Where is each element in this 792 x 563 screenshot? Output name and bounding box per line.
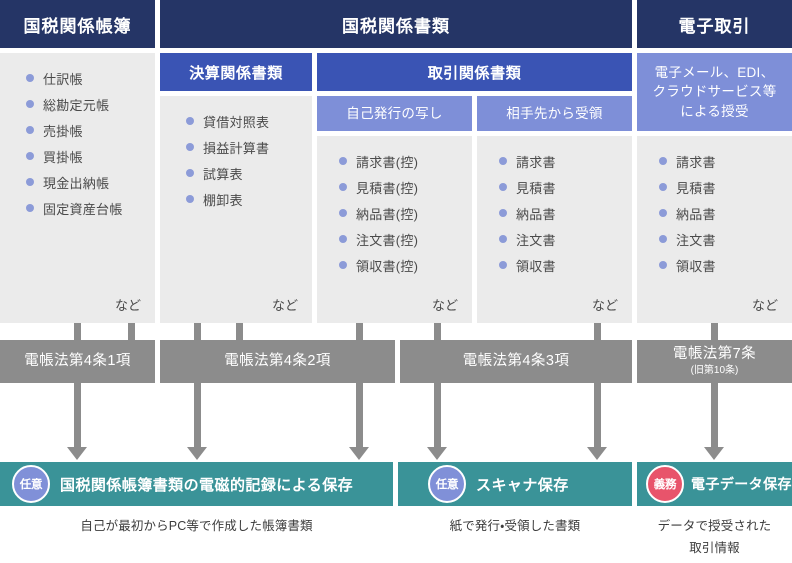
badge-optional-books: 任意 [12,465,50,503]
list-item: 総勘定元帳 [26,91,155,117]
list-item-label: 試算表 [203,164,243,183]
list-item-label: 納品書 [676,204,716,223]
bullet-icon [499,235,507,243]
bullet-icon [26,204,34,212]
list-panel-etrade: 請求書見積書納品書注文書領収書 など [637,136,792,323]
connector-etrade-to-law7 [711,323,718,340]
bullet-icon [499,183,507,191]
list-panel-self-issued: 請求書(控)見積書(控)納品書(控)注文書(控)領収書(控) など [317,136,472,323]
list-item-label: 領収書 [676,256,716,275]
bullet-icon [186,169,194,177]
result-label-electronic-data: 電子データ保存 [691,474,792,494]
bullet-icon [339,261,347,269]
list-item-label: 損益計算書 [203,138,269,157]
list-item-label: 領収書(控) [356,256,418,275]
arrow-stem-1 [74,383,81,449]
bullet-icon [659,183,667,191]
list-item: 買掛帳 [26,143,155,169]
bullet-icon [339,209,347,217]
bullet-icon [339,157,347,165]
list-item: 請求書 [659,148,792,174]
caption-scanner-storage: 紙で発行・受領した書類 [398,516,632,538]
result-box-scanner-storage: 任意 スキャナ保存 [398,462,632,506]
law-bar-4-2: 電帳法第4条2項 [160,340,395,383]
list-item-label: 総勘定元帳 [43,95,109,114]
bullet-icon [26,152,34,160]
arrow-head-6 [704,447,724,460]
list-item-label: 見積書(控) [356,178,418,197]
list-item-label: 現金出納帳 [43,173,109,192]
list-item-label: 見積書 [516,178,556,197]
category-header-etrade-label: 電子取引 [678,12,750,37]
bullet-icon [26,178,34,186]
sub-header-settlement: 決算関係書類 [160,53,312,91]
bullet-icon [186,143,194,151]
list-item: 請求書 [499,148,632,174]
connector-received-to-law3 [594,323,601,340]
sub-header-self-issued-label: 自己発行の写し [346,104,442,124]
badge-mandatory-edata: 義務 [646,465,684,503]
list-item: 損益計算書 [186,134,312,160]
bullet-icon [339,235,347,243]
list-settlement: 貸借対照表損益計算書試算表棚卸表 [186,108,312,212]
law-bar-4-3: 電帳法第4条3項 [400,340,632,383]
list-item-label: 請求書 [516,152,556,171]
category-header-documents-label: 国税関係書類 [342,12,450,37]
bullet-icon [26,126,34,134]
category-header-books: 国税関係帳簿 [0,0,155,48]
category-header-books-label: 国税関係帳簿 [23,12,131,37]
bullet-icon [339,183,347,191]
law-bar-4-1: 電帳法第4条1項 [0,340,155,383]
list-item: 領収書 [659,252,792,278]
list-item: 試算表 [186,160,312,186]
list-item: 固定資産台帳 [26,195,155,221]
list-item-label: 注文書 [516,230,556,249]
bullet-icon [499,157,507,165]
sub-header-etrade-means-label: 電子メール、EDI、クラウドサービス等による授受 [653,63,777,122]
bullet-icon [186,117,194,125]
list-item-label: 納品書(控) [356,204,418,223]
sub-header-self-issued: 自己発行の写し [317,96,472,131]
result-label-scanner-storage: スキャナ保存 [476,474,569,495]
list-item-label: 請求書 [676,152,716,171]
list-panel-received: 請求書見積書納品書注文書領収書 など [477,136,632,323]
list-item: 納品書(控) [339,200,472,226]
arrow-stem-2 [194,383,201,449]
connector-books-to-law1 [74,323,81,340]
list-item-label: 領収書 [516,256,556,275]
law-bar-4-3-label: 電帳法第4条3項 [463,353,570,370]
law-bar-7-sublabel: (旧第10条) [691,365,739,377]
connector-law1-right-stub [194,323,201,340]
bullet-icon [659,261,667,269]
list-item: 見積書 [499,174,632,200]
connector-settlement-to-law2 [128,323,135,340]
caption-electronic-books: 自己が最初からPC等で作成した帳簿書類 [0,516,393,538]
list-item: 納品書 [659,200,792,226]
arrow-head-4 [427,447,447,460]
list-item-label: 売掛帳 [43,121,83,140]
list-received: 請求書見積書納品書注文書領収書 [499,148,632,278]
sub-header-etrade-means: 電子メール、EDI、クラウドサービス等による授受 [637,53,792,131]
sub-header-transaction: 取引関係書類 [317,53,632,91]
list-item: 見積書(控) [339,174,472,200]
list-item-label: 見積書 [676,178,716,197]
list-item: 請求書(控) [339,148,472,174]
result-box-electronic-data: 義務 電子データ保存 [637,462,792,506]
arrow-head-5 [587,447,607,460]
list-item: 納品書 [499,200,632,226]
list-item-label: 固定資産台帳 [43,199,123,218]
list-item: 注文書 [499,226,632,252]
diagram-root: 国税関係帳簿 国税関係書類 電子取引 決算関係書類 取引関係書類 電子メール、E… [0,0,792,563]
arrow-stem-3 [356,383,363,449]
list-item-label: 納品書 [516,204,556,223]
list-item-label: 注文書 [676,230,716,249]
list-books: 仕訳帳総勘定元帳売掛帳買掛帳現金出納帳固定資産台帳 [26,65,155,221]
list-item-label: 仕訳帳 [43,69,83,88]
connector-selfissued-to-law3-b [434,323,441,340]
list-item-label: 注文書(控) [356,230,418,249]
list-etrade: 請求書見積書納品書注文書領収書 [659,148,792,278]
list-self-issued: 請求書(控)見積書(控)納品書(控)注文書(控)領収書(控) [339,148,472,278]
list-item-label: 貸借対照表 [203,112,269,131]
etc-label-self-issued: など [339,295,472,323]
law-bar-4-1-label: 電帳法第4条1項 [24,353,131,370]
arrow-stem-5 [594,383,601,449]
arrow-head-3 [349,447,369,460]
bullet-icon [659,209,667,217]
list-item: 領収書(控) [339,252,472,278]
list-item: 見積書 [659,174,792,200]
caption-electronic-data: データで授受された取引情報 [637,516,792,560]
bullet-icon [659,235,667,243]
sub-header-received: 相手先から受領 [477,96,632,131]
list-item: 棚卸表 [186,186,312,212]
etc-label-etrade: など [659,295,792,323]
bullet-icon [499,209,507,217]
list-panel-settlement: 貸借対照表損益計算書試算表棚卸表 など [160,96,312,323]
sub-header-transaction-label: 取引関係書類 [428,62,522,83]
arrow-head-1 [67,447,87,460]
arrow-head-2 [187,447,207,460]
list-item: 貸借対照表 [186,108,312,134]
connector-selfissued-to-law3 [356,323,363,340]
list-item: 仕訳帳 [26,65,155,91]
category-header-etrade: 電子取引 [637,0,792,48]
list-item: 売掛帳 [26,117,155,143]
list-item: 領収書 [499,252,632,278]
bullet-icon [26,100,34,108]
list-item-label: 買掛帳 [43,147,83,166]
connector-settlement-to-law2-b [236,323,243,340]
list-item-label: 棚卸表 [203,190,243,209]
result-box-electronic-books: 任意 国税関係帳簿書類の電磁的記録による保存 [0,462,393,506]
bullet-icon [186,195,194,203]
badge-optional-scanner: 任意 [428,465,466,503]
arrow-stem-4 [434,383,441,449]
bullet-icon [499,261,507,269]
law-bar-4-2-label: 電帳法第4条2項 [224,353,331,370]
list-item: 注文書(控) [339,226,472,252]
list-item-label: 請求書(控) [356,152,418,171]
sub-header-settlement-label: 決算関係書類 [189,62,283,83]
list-item: 注文書 [659,226,792,252]
list-item: 現金出納帳 [26,169,155,195]
list-panel-books: 仕訳帳総勘定元帳売掛帳買掛帳現金出納帳固定資産台帳 など [0,53,155,323]
etc-label-books: など [26,295,155,323]
etc-label-received: など [499,295,632,323]
bullet-icon [659,157,667,165]
law-bar-7-label: 電帳法第7条 [673,346,756,363]
arrow-stem-6 [711,383,718,449]
bullet-icon [26,74,34,82]
category-header-documents: 国税関係書類 [160,0,632,48]
law-bar-7: 電帳法第7条 (旧第10条) [637,340,792,383]
etc-label-settlement: など [186,295,312,323]
result-label-electronic-books: 国税関係帳簿書類の電磁的記録による保存 [60,474,353,495]
sub-header-received-label: 相手先から受領 [506,104,602,124]
